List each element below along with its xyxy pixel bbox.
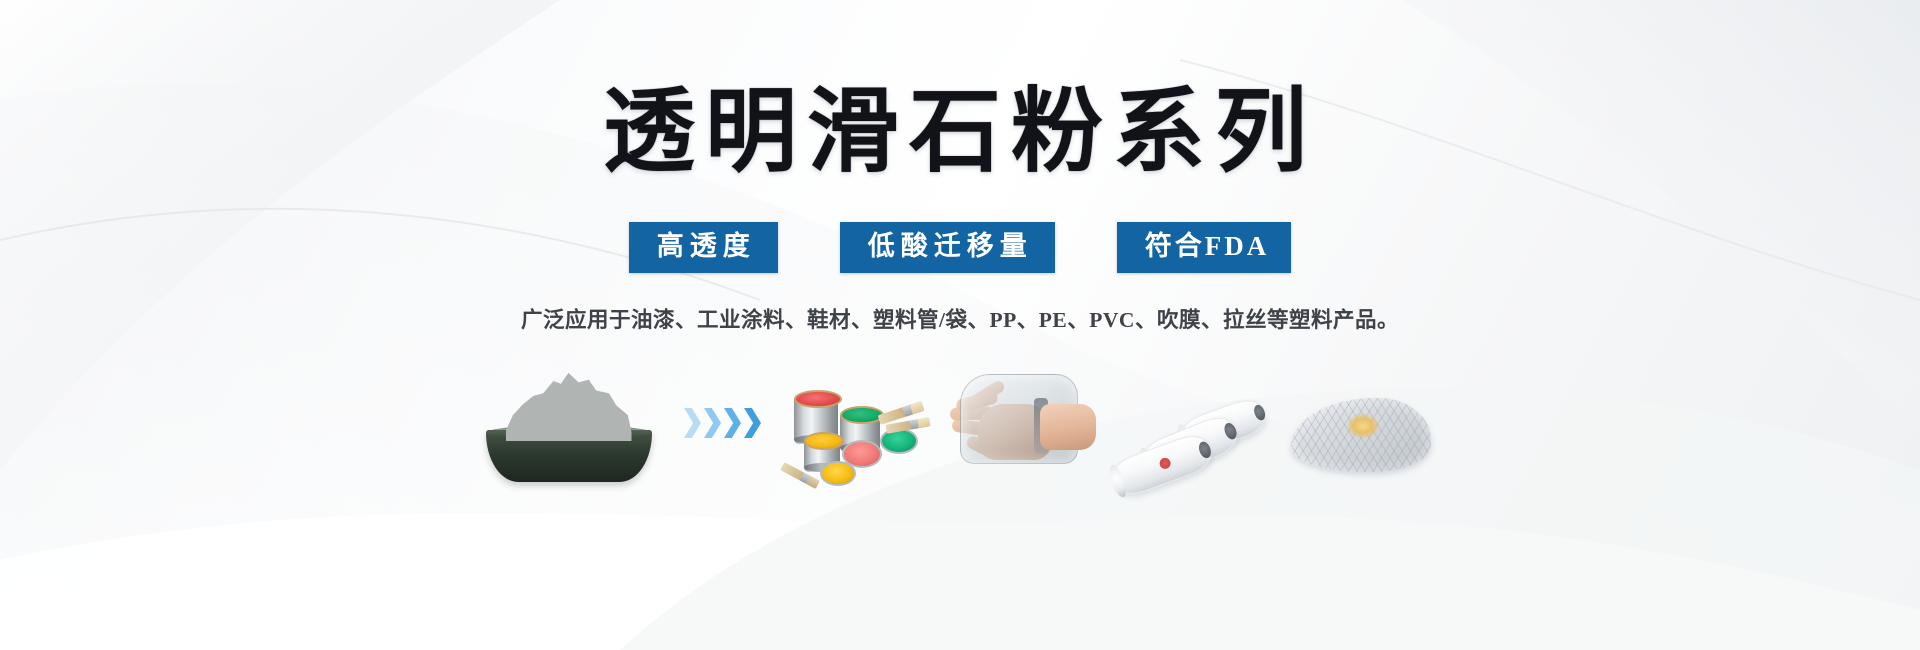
shoe-sole-highlight: [1346, 413, 1380, 439]
feature-badge-high-transparency[interactable]: 高透度: [629, 222, 778, 273]
wrist-shape: [1040, 404, 1096, 450]
hand-shape: [948, 378, 1098, 470]
paint-can-red-surface: [794, 390, 842, 408]
shoe-sole-image: [1277, 358, 1447, 488]
process-arrows-icon: [664, 358, 782, 488]
chevron-right-icon: [724, 408, 741, 438]
brush-bristles: [909, 401, 924, 414]
banner-subtitle: 广泛应用于油漆、工业涂料、鞋材、塑料管/袋、PP、PE、PVC、吹膜、拉丝等塑料…: [0, 303, 1920, 334]
feature-badge-list: 高透度 低酸迁移量 符合FDA: [0, 222, 1920, 273]
talc-powder-grain-texture: [506, 373, 632, 441]
film-roll-cap: [1106, 463, 1129, 499]
brush-bristles: [917, 417, 930, 428]
chevron-right-icon: [684, 408, 701, 438]
plastic-film-rolls-image: [1107, 358, 1277, 488]
shoe-sole-shape: [1291, 398, 1431, 472]
film-roll-logo-dot: [1158, 456, 1172, 470]
chevron-right-icon: [704, 408, 721, 438]
paint-cans-image: [782, 358, 942, 488]
banner-title: 透明滑石粉系列: [0, 86, 1920, 178]
feature-badge-low-acid-migration[interactable]: 低酸迁移量: [840, 222, 1055, 273]
plastic-glove-hand-image: [942, 358, 1107, 488]
paint-lid-green: [880, 428, 918, 454]
talc-powder-bowl-image: [474, 358, 664, 488]
product-image-strip: [0, 358, 1920, 488]
product-banner: 透明滑石粉系列 高透度 低酸迁移量 符合FDA 广泛应用于油漆、工业涂料、鞋材、…: [0, 0, 1920, 650]
film-roll-core: [1252, 403, 1267, 421]
feature-badge-fda-compliant[interactable]: 符合FDA: [1117, 222, 1292, 273]
paint-lid-yellow: [820, 461, 856, 486]
chevron-right-icon: [744, 408, 761, 438]
paint-can-yellow-surface: [804, 432, 844, 450]
